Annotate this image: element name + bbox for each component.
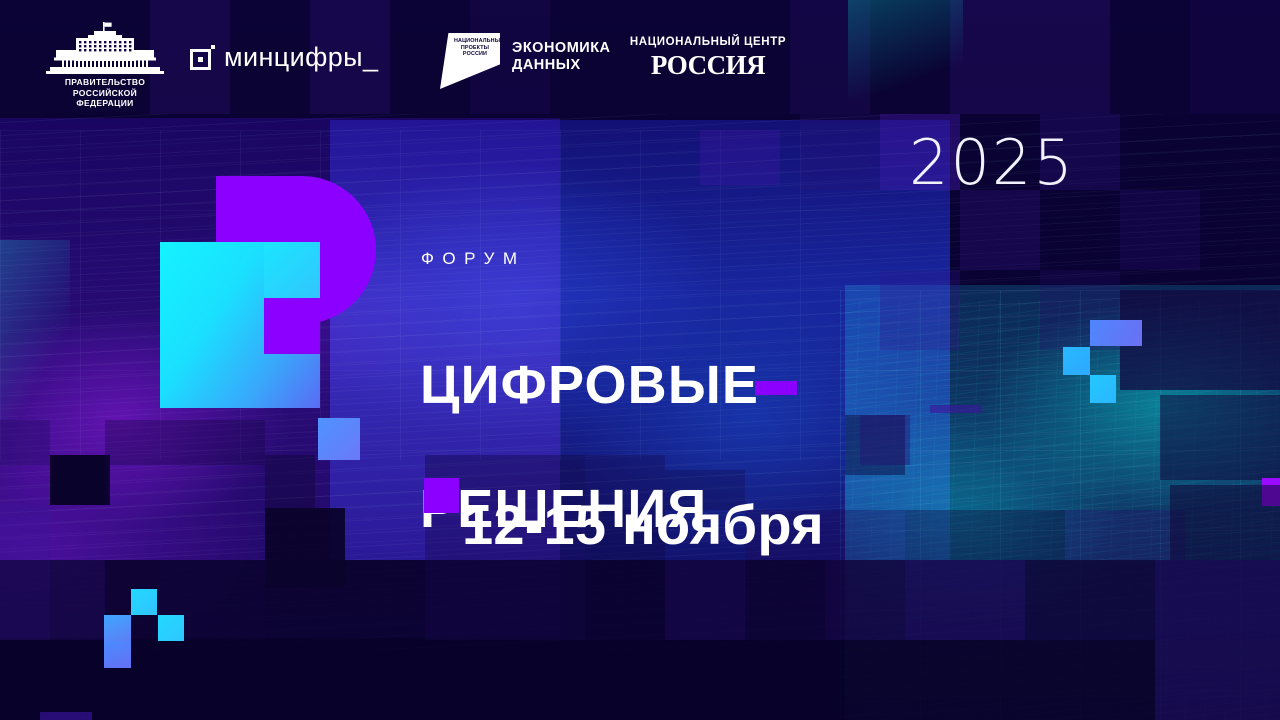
accent-chip-purple-mid-left [55,455,110,505]
logo-mincifry[interactable]: минцифры_ [190,44,378,71]
logo-nacionalnyi-centr-rossiya[interactable]: НАЦИОНАЛЬНЫЙ ЦЕНТР РОССИЯ [620,36,796,80]
accent-chip-cyan-right-3 [1090,375,1116,403]
nacproekty-badge-line-3: РОССИИ [463,51,487,57]
ekonomika-dannyh-line-2: ДАННЫХ [512,57,581,73]
logo-nacproekty[interactable]: НАЦИОНАЛЬНЫЕ ПРОЕКТЫ РОССИИ ЭКОНОМИКА ДА… [440,33,611,89]
gov-caption-line-3: ФЕДЕРАЦИИ [34,98,176,109]
title-underscore-accent [755,381,797,395]
accent-chip-cyan-bl-3 [158,615,184,641]
forum-dates: 12-15 ноября [462,494,824,556]
ncr-top-line: НАЦИОНАЛЬНЫЙ ЦЕНТР [620,36,796,49]
logo-mark-cyan-cell [264,242,320,298]
logo-mark-purple-cell [264,298,320,354]
nacproekty-badge-line-1: НАЦИОНАЛЬНЫЕ [454,38,504,44]
accent-chip-blue-top-left [318,418,360,460]
accent-chip-purple-dark-1 [700,130,780,185]
accent-chip-purple-dark-2 [860,415,910,465]
gov-caption-line-2: РОССИЙСКОЙ [34,88,176,99]
logo-government-rf[interactable]: ПРАВИТЕЛЬСТВО РОССИЙСКОЙ ФЕДЕРАЦИИ [34,22,176,109]
accent-chip-blue-bl-2 [104,615,131,642]
forum-kicker: ФОРУМ [421,249,526,269]
accent-chip-cyan-right-2 [1063,347,1090,375]
forum-logo-mark [160,176,376,408]
forum-title-line-1: ЦИФРОВЫЕ [420,354,759,416]
gov-caption-line-1: ПРАВИТЕЛЬСТВО [34,77,176,88]
accent-chip-purple-mid-strip [930,405,982,413]
ncr-wordmark: РОССИЯ [620,50,796,80]
nacproekty-sail-icon: НАЦИОНАЛЬНЫЕ ПРОЕКТЫ РОССИИ [440,33,500,89]
accent-chip-cyan-bl-1 [131,589,157,615]
ekonomika-dannyh-line-1: ЭКОНОМИКА [512,40,611,56]
dates-accent-chip [424,478,459,513]
forum-year: 2025 [909,130,1075,196]
nacproekty-badge-line-2: ПРОЕКТЫ [461,45,489,51]
accent-chip-purple-bottom-left [40,712,92,720]
accent-chip-blue-bl-4 [104,641,131,668]
government-building-icon [46,22,164,74]
accent-chip-blue-right-1 [1090,320,1142,346]
mincifry-wordmark: минцифры_ [224,44,378,71]
header-logo-row: ПРАВИТЕЛЬСТВО РОССИЙСКОЙ ФЕДЕРАЦИИ минци… [0,0,1280,114]
mincifry-square-dot-icon [190,45,215,70]
poster-canvas: ПРАВИТЕЛЬСТВО РОССИЙСКОЙ ФЕДЕРАЦИИ минци… [0,0,1280,720]
accent-chip-navy-right-block [1170,485,1280,560]
